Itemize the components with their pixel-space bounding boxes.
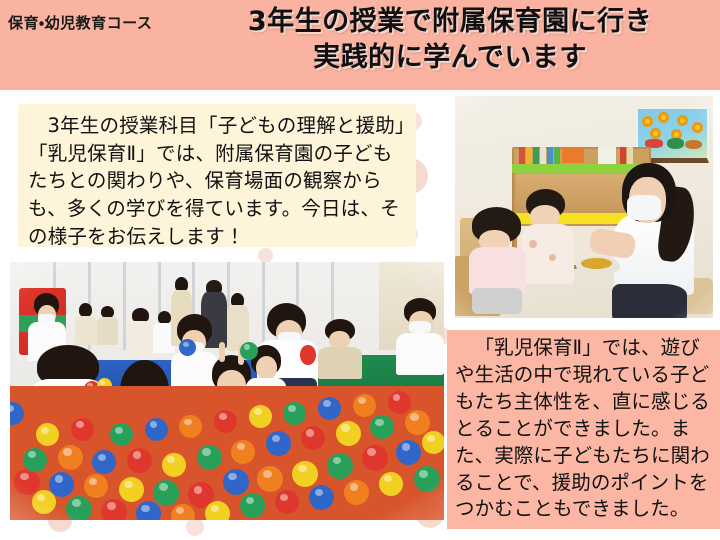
slide-root: 保育・幼児教育コース 3年生の授業で附属保育園に行き 実践的に学んでいます — [0, 0, 720, 540]
reflection-text-body: 「乳児保育Ⅱ」では、遊びや生活の中で現れている子どもたち主体性を、直に感じるとる… — [455, 335, 714, 523]
student-teacher — [612, 163, 705, 318]
background-figure — [97, 306, 119, 345]
intro-text-panel: 3年生の授業科目「子どもの理解と援助」「乳児保育Ⅱ」では、附属保育園の子どもたち… — [18, 104, 416, 247]
ball-pit-photo — [10, 262, 444, 520]
ball-pit — [10, 386, 444, 520]
decorative-circle — [186, 518, 204, 536]
background-figure — [127, 308, 153, 354]
ball — [240, 342, 258, 360]
background-figure — [75, 303, 97, 344]
reflection-text-panel: 「乳児保育Ⅱ」では、遊びや生活の中で現れている子どもたち主体性を、直に感じるとる… — [447, 330, 720, 529]
page-title: 3年生の授業で附属保育園に行き 実践的に学んでいます — [190, 4, 710, 75]
nursery-room-photo — [455, 96, 713, 318]
intro-text-body: 3年生の授業科目「子どもの理解と援助」「乳児保育Ⅱ」では、附属保育園の子どもたち… — [28, 112, 406, 250]
toddler-standing — [522, 189, 574, 304]
child-on-green-mat — [318, 319, 361, 376]
header-band: 保育・幼児教育コース 3年生の授業で附属保育園に行き 実践的に学んでいます — [0, 0, 720, 90]
toddler-seated — [468, 207, 530, 314]
course-tag: 保育・幼児教育コース — [8, 12, 152, 33]
page-title-line-2: 実践的に学んでいます — [190, 40, 710, 76]
staff-right — [396, 298, 444, 370]
page-title-line-1: 3年生の授業で附属保育園に行き — [248, 6, 652, 37]
face-mask-icon — [627, 195, 660, 220]
